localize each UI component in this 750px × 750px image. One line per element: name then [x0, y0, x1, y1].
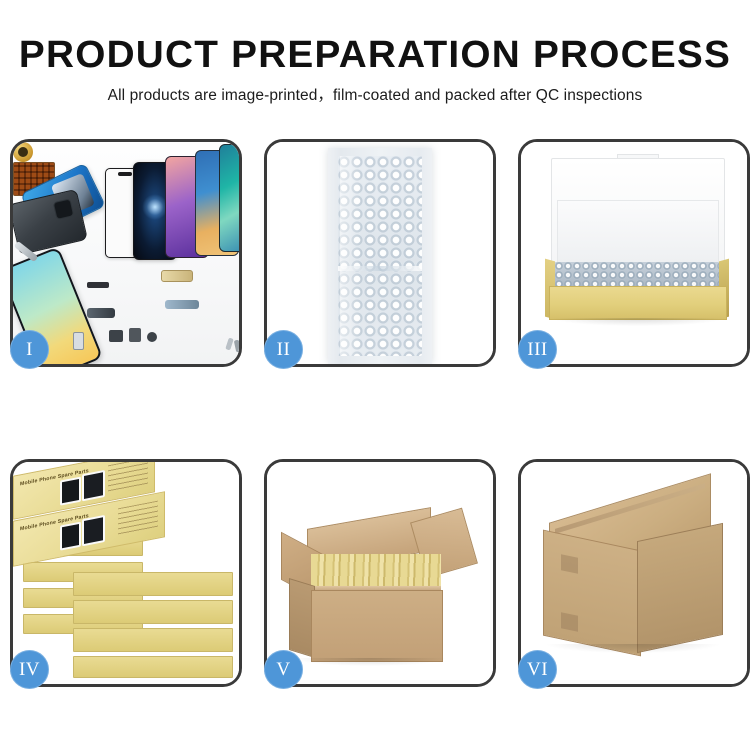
process-step-panel-3[interactable]: III: [518, 139, 750, 367]
part-flex-cable-grey: [165, 300, 199, 309]
part-connector-b: [129, 328, 141, 342]
step-3-image: [521, 142, 747, 364]
phones-and-parts-scene: [13, 142, 239, 364]
box-paper-liner: [557, 200, 719, 264]
open-carton-scene: [267, 462, 493, 684]
bubble-wrap-seam: [338, 266, 422, 271]
step-4-image: Mobile Phone Spare Parts Mobile Phone Sp…: [13, 462, 239, 684]
box-bubble-contents: [555, 262, 719, 288]
part-speaker-bar: [87, 282, 109, 288]
stacked-box-front-3: [73, 628, 233, 652]
step-badge-5: V: [264, 650, 303, 689]
part-vibration-motor: [13, 142, 33, 162]
step-badge-4: IV: [10, 650, 49, 689]
bubble-wrap-scene: [267, 142, 493, 364]
page-subtitle: All products are image-printed，film-coat…: [0, 77, 750, 106]
part-flex-cable-gold: [161, 270, 193, 282]
sealed-carton-right-face: [637, 523, 723, 653]
step-badge-6: VI: [518, 650, 557, 689]
box-screen-image-a1: [60, 477, 81, 506]
sealed-carton-tape-patch-bottom: [561, 612, 578, 632]
step-badge-1: I: [10, 330, 49, 369]
bubble-wrap-highlight: [340, 156, 362, 356]
bubble-wrap-sheet: [328, 148, 432, 364]
box-front-panel: [549, 286, 727, 320]
part-screw-a: [225, 338, 233, 351]
process-step-panel-2[interactable]: II: [264, 139, 496, 367]
box-screen-image-a2: [60, 522, 81, 551]
process-step-panel-5[interactable]: V: [264, 459, 496, 687]
box-spec-lines-front: [118, 501, 158, 537]
step-5-image: [267, 462, 493, 684]
phone-teal-screen: [219, 144, 239, 252]
header: PRODUCT PREPARATION PROCESS All products…: [0, 0, 750, 106]
box-drop-shadow: [553, 318, 723, 326]
process-step-panel-6[interactable]: VI: [518, 459, 750, 687]
carton-drop-shadow: [295, 658, 445, 666]
sealed-carton-tape-patch-top: [561, 554, 578, 574]
box-screen-image-b1: [82, 470, 105, 501]
page-title: PRODUCT PREPARATION PROCESS: [0, 0, 750, 77]
carton-front-face: [311, 590, 443, 662]
stacked-box-front-1: [73, 572, 233, 596]
step-badge-2: II: [264, 330, 303, 369]
product-preparation-infographic: PRODUCT PREPARATION PROCESS All products…: [0, 0, 750, 750]
sealed-carton-drop-shadow: [547, 644, 719, 653]
box-spec-lines-rear: [108, 462, 148, 493]
stacked-box-front-4: [73, 656, 233, 678]
part-screw-b: [234, 340, 239, 353]
stacked-boxes-scene: Mobile Phone Spare Parts Mobile Phone Sp…: [13, 462, 239, 684]
open-inner-box-scene: [521, 142, 747, 364]
sealed-carton-left-face: [543, 530, 641, 657]
part-connector-a: [109, 330, 123, 342]
step-6-image: [521, 462, 747, 684]
step-2-image: [267, 142, 493, 364]
step-badge-3: III: [518, 330, 557, 369]
sealed-carton-scene: [521, 462, 747, 684]
part-sim-tray: [73, 332, 84, 350]
process-step-panel-1[interactable]: I: [10, 139, 242, 367]
process-step-panel-4[interactable]: Mobile Phone Spare Parts Mobile Phone Sp…: [10, 459, 242, 687]
process-step-grid: I II: [10, 139, 740, 691]
step-1-image: [13, 142, 239, 364]
part-camera-lens: [147, 332, 157, 342]
box-screen-image-b2: [82, 515, 105, 546]
part-flex-cable-dark: [87, 308, 115, 318]
stacked-box-front-2: [73, 600, 233, 624]
